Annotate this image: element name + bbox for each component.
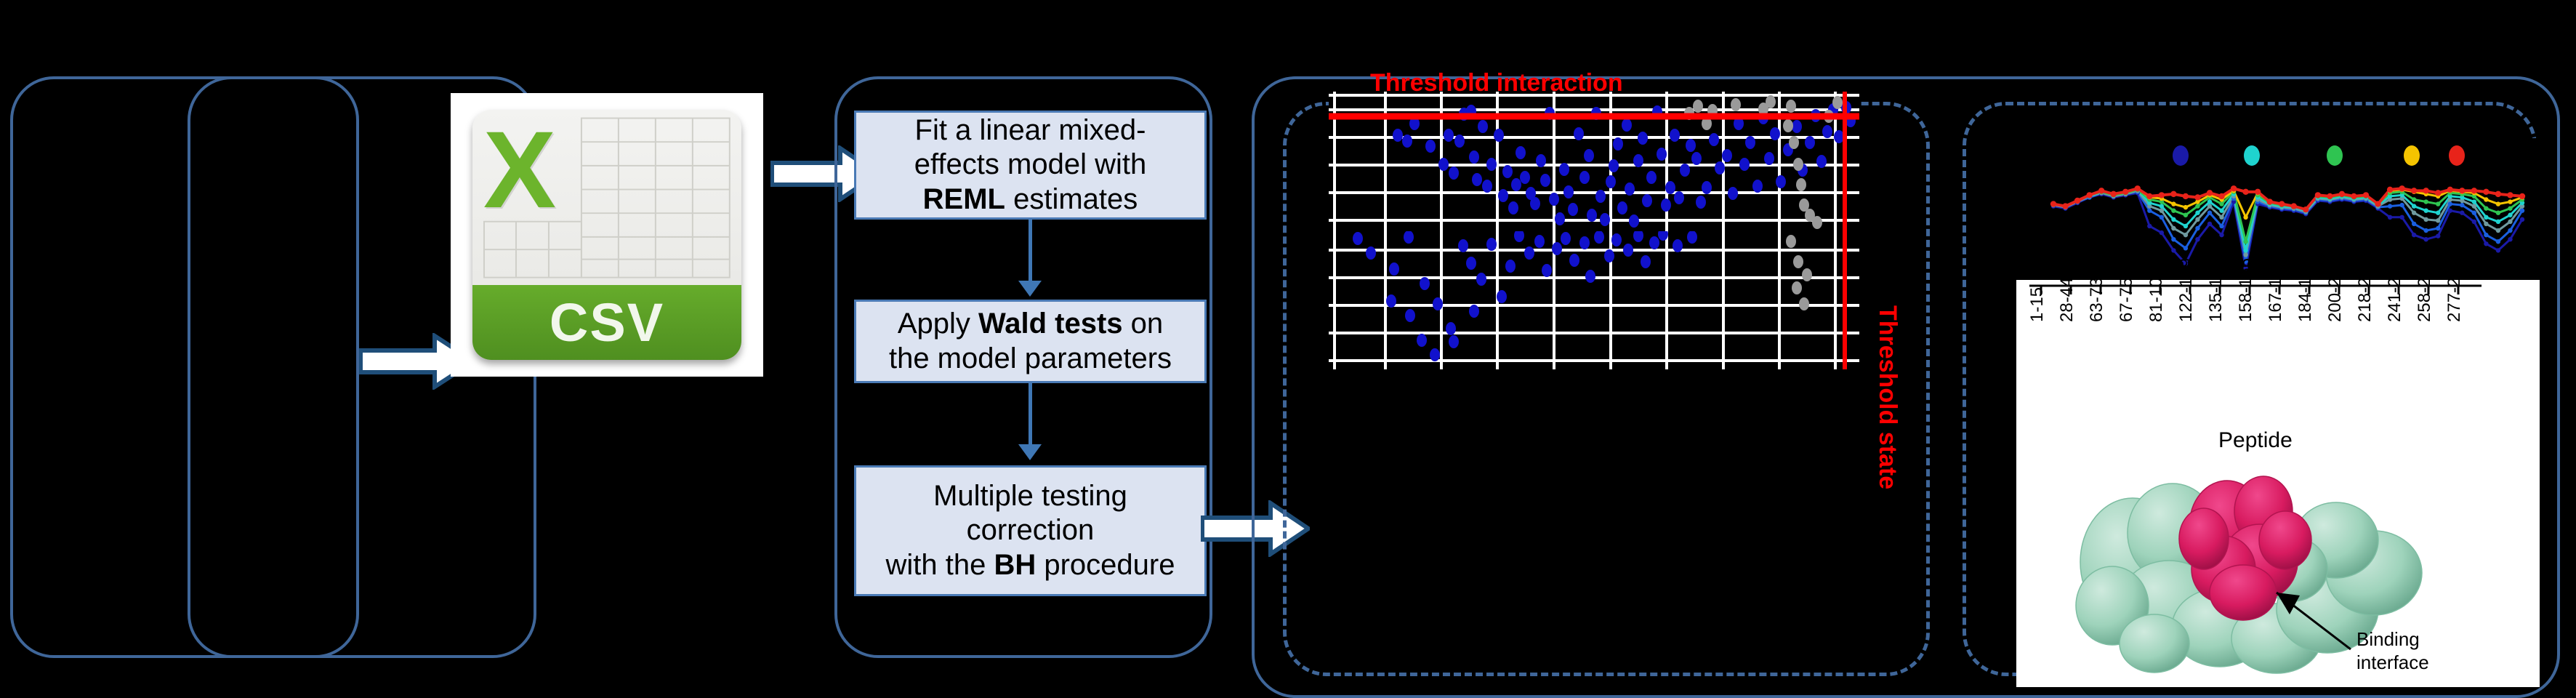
data-point: [2484, 222, 2488, 226]
data-point: [2508, 199, 2512, 204]
process-box-line: effects model with: [914, 148, 1146, 182]
csv-icon-letter: X: [483, 115, 556, 224]
data-point: [2387, 187, 2393, 193]
data-point: [2507, 192, 2513, 198]
process-box-line: Multiple testing: [886, 479, 1175, 513]
data-point: [2135, 185, 2141, 191]
threshold-state-label: Threshold state: [1873, 305, 1901, 489]
data-point: [2207, 204, 2212, 208]
scatter-plot-lower-svg: [1329, 231, 1859, 369]
data-point: [2411, 188, 2417, 193]
data-point: [2207, 190, 2213, 196]
peptide-tick-label: 200-214: [2325, 258, 2346, 322]
data-point: [2243, 252, 2247, 257]
data-point: [2495, 191, 2501, 197]
data-point: [2171, 208, 2175, 212]
data-point: [2195, 217, 2199, 222]
data-point: [2339, 191, 2345, 197]
plain-text: correction: [967, 514, 1095, 546]
data-point: [2147, 208, 2152, 212]
data-point: [2146, 193, 2152, 199]
data-point: [2496, 211, 2500, 215]
data-point: [2242, 189, 2248, 195]
data-point: [2423, 188, 2428, 193]
process-box-fit-model: Fit a linear mixed-effects model withREM…: [854, 111, 1207, 220]
data-point: [2508, 237, 2512, 241]
data-point: [2436, 226, 2440, 230]
data-point: [2412, 204, 2416, 208]
data-point: [2231, 185, 2237, 191]
data-point: [2423, 217, 2428, 222]
csv-file-icon: X CSV: [451, 93, 763, 377]
data-point: [2412, 233, 2416, 237]
data-point: [2423, 199, 2428, 204]
data-point: [2363, 192, 2369, 198]
connector-2: [1029, 383, 1032, 446]
csv-icon-label: CSV: [550, 292, 664, 353]
data-point: [2399, 185, 2404, 191]
peptide-tick-label: 81-101: [2146, 268, 2167, 322]
process-box-line: Apply Wald tests on: [889, 307, 1172, 341]
data-point: [2423, 228, 2428, 233]
peptide-tick-label: 1-15: [2027, 287, 2048, 322]
peptide-tick-label: 277-284: [2444, 258, 2465, 322]
data-point: [2484, 215, 2488, 220]
data-point: [2266, 198, 2272, 204]
data-point: [2460, 211, 2464, 215]
data-point: [2508, 228, 2512, 233]
data-point: [2170, 191, 2176, 197]
data-point: [2160, 215, 2164, 220]
data-point: [2219, 224, 2223, 228]
data-point: [2194, 194, 2200, 200]
y-axis-tick-zero: 0.0: [1971, 268, 1997, 291]
data-point: [2218, 193, 2224, 199]
process-box-line: REML estimates: [914, 182, 1146, 217]
binding-interface-annotation-line1: Binding: [2356, 629, 2420, 651]
data-point: [2243, 239, 2247, 244]
data-point: [2327, 193, 2333, 199]
data-point: [2472, 204, 2476, 208]
data-point: [2484, 206, 2488, 210]
peptide-tick-label: 63-73: [2087, 278, 2107, 322]
data-point: [2472, 211, 2476, 215]
data-point: [2207, 211, 2212, 215]
scatter-plot-svg: [1329, 92, 1859, 231]
data-point: [2183, 233, 2188, 237]
data-point: [2183, 205, 2188, 209]
data-point: [2098, 188, 2104, 193]
data-point: [2520, 208, 2524, 212]
csv-icon-band: CSV: [472, 285, 741, 360]
peptide-tick-label: 241-257: [2385, 258, 2405, 322]
peptide-tick-label: 158-166: [2236, 258, 2256, 322]
data-point: [2519, 193, 2525, 199]
data-point: [2074, 198, 2080, 204]
data-point: [2436, 201, 2440, 206]
process-box-text: Fit a linear mixed-effects model withREM…: [914, 113, 1146, 217]
data-point: [2171, 237, 2175, 241]
data-point: [2207, 222, 2212, 226]
emphasis-text: REML: [923, 183, 1005, 215]
data-point: [2050, 201, 2056, 206]
data-point: [2520, 217, 2524, 222]
data-point: [2496, 239, 2500, 244]
peptide-tick-label: 167-180: [2266, 258, 2286, 322]
plain-text: estimates: [1005, 183, 1138, 215]
data-point: [2483, 189, 2489, 195]
data-point: [2448, 208, 2452, 212]
process-box-wald-tests: Apply Wald tests onthe model parameters: [854, 300, 1207, 383]
peptide-tick-label: 67-75: [2117, 278, 2137, 322]
data-point: [2412, 222, 2416, 226]
data-point: [2195, 226, 2199, 230]
data-point: [2183, 246, 2188, 250]
plain-text: Fit a linear mixed-: [915, 114, 1146, 146]
data-point: [2508, 206, 2512, 210]
data-point: [2496, 220, 2500, 224]
data-point: [2460, 203, 2464, 207]
data-point: [2351, 193, 2356, 199]
process-box-text: Multiple testingcorrectionwith the BH pr…: [886, 479, 1175, 582]
data-point: [2171, 201, 2175, 206]
data-point: [2219, 215, 2223, 220]
data-point: [2171, 248, 2175, 252]
data-point: [2423, 237, 2428, 241]
data-point: [2291, 203, 2297, 209]
process-box-line: the model parameters: [889, 342, 1172, 376]
data-point: [2448, 201, 2452, 206]
data-point: [2388, 204, 2392, 208]
data-point: [2303, 206, 2309, 212]
data-point: [2147, 224, 2152, 228]
plain-text: on: [1123, 308, 1164, 340]
data-point: [2484, 197, 2488, 201]
plain-text: the model parameters: [889, 342, 1172, 374]
data-point: [2496, 248, 2500, 252]
process-box-line: with the BH procedure: [886, 548, 1175, 582]
data-point: [2447, 187, 2453, 193]
process-box-text: Apply Wald tests onthe model parameters: [889, 307, 1172, 375]
data-point: [2243, 248, 2247, 252]
x-axis-label-peptide: Peptide: [2218, 428, 2293, 453]
data-point: [2472, 199, 2476, 204]
data-point: [2459, 188, 2465, 193]
data-point: [2159, 192, 2165, 198]
plain-text: Multiple testing: [933, 480, 1127, 512]
peptide-tick-label: 184-199: [2295, 258, 2316, 322]
data-point: [2255, 189, 2261, 195]
data-point: [2086, 192, 2092, 198]
data-point: [2508, 213, 2512, 217]
data-point: [2436, 211, 2440, 215]
data-point: [2195, 211, 2199, 215]
data-point: [2195, 204, 2199, 208]
peptide-structure-card: 0.0 1-1528-4463-7367-7581-101122-129135-…: [2016, 280, 2540, 687]
data-point: [2110, 191, 2116, 197]
data-point: [2472, 220, 2476, 224]
connector-arrowhead-2: [1018, 444, 1042, 460]
data-point: [2436, 218, 2440, 222]
data-point: [2399, 203, 2404, 207]
data-point: [2183, 193, 2189, 199]
data-point: [2219, 233, 2223, 237]
plain-text: procedure: [1036, 549, 1175, 581]
plain-text: effects model with: [914, 148, 1146, 180]
plain-text: Apply: [898, 308, 978, 340]
data-point: [2508, 220, 2512, 224]
data-point: [2207, 199, 2212, 204]
data-point: [2315, 192, 2321, 198]
data-point: [2243, 215, 2247, 220]
connector-1: [1029, 220, 1032, 282]
csv-icon-body: X CSV: [472, 110, 741, 359]
data-point: [2388, 215, 2392, 220]
data-point: [2496, 201, 2500, 206]
peptide-tick-label: 122-129: [2176, 258, 2197, 322]
emphasis-text: Wald tests: [978, 308, 1123, 340]
data-point: [2219, 208, 2223, 212]
peptide-tick-label: 28-44: [2057, 278, 2077, 322]
data-point: [2496, 228, 2500, 233]
data-point: [2412, 197, 2416, 201]
data-point: [2423, 208, 2428, 212]
process-box-multiple-testing: Multiple testingcorrectionwith the BH pr…: [854, 465, 1207, 596]
flowchart-canvas: X CSV Fit a linear mixed-effects model w…: [0, 0, 2576, 687]
data-point: [2171, 217, 2175, 222]
data-point: [2160, 230, 2164, 235]
process-box-line: Fit a linear mixed-: [914, 113, 1146, 148]
data-point: [2183, 213, 2188, 217]
protein-structure-image: [2045, 453, 2511, 686]
data-point: [2435, 190, 2441, 196]
plain-text: with the: [886, 549, 994, 581]
data-point: [2279, 201, 2285, 206]
data-point: [2412, 211, 2416, 215]
peptide-tick-label: 135-144: [2206, 258, 2226, 322]
data-point: [2375, 201, 2380, 206]
peptide-tick-label: 258-266: [2415, 258, 2435, 322]
data-point: [2183, 224, 2188, 228]
data-point: [2195, 237, 2199, 241]
data-point: [2484, 241, 2488, 246]
process-box-line: correction: [886, 513, 1175, 547]
data-point: [2484, 233, 2488, 237]
data-point: [2160, 208, 2164, 212]
connector-arrowhead-1: [1018, 281, 1042, 297]
data-point: [2171, 226, 2175, 230]
data-point: [2399, 215, 2404, 220]
binding-interface-annotation-line2: interface: [2356, 652, 2429, 674]
data-point: [2436, 233, 2440, 238]
data-point: [2160, 204, 2164, 208]
peptide-tick-label: 218-237: [2355, 258, 2375, 322]
data-point: [2219, 201, 2223, 206]
data-point: [2471, 188, 2477, 193]
data-point: [2122, 189, 2128, 195]
emphasis-text: BH: [994, 549, 1036, 581]
data-point: [2062, 203, 2068, 209]
